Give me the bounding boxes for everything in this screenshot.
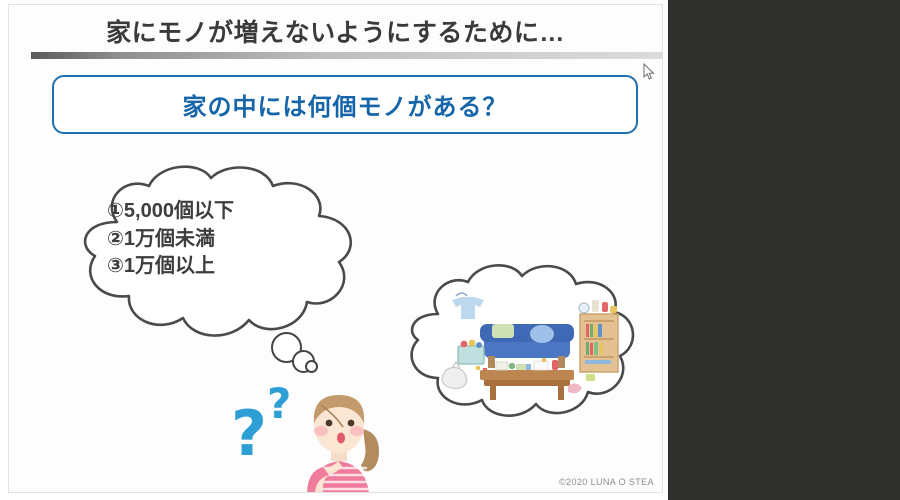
title-divider xyxy=(31,52,663,59)
slide-title: 家にモノが増えないようにするために… xyxy=(9,13,662,49)
answer-option-1: ①5,000個以下 xyxy=(107,198,347,226)
mouse-cursor-icon xyxy=(643,63,655,81)
participant-filmstrip xyxy=(668,0,900,500)
answer-option-3: ③1万個以上 xyxy=(107,253,347,281)
answer-option-2: ②1万個未満 xyxy=(107,226,347,254)
thinking-woman-illustration xyxy=(285,383,395,493)
question-mark-large: ? xyxy=(231,397,267,470)
answer-list: ①5,000個以下 ②1万個未満 ③1万個以上 xyxy=(107,198,347,281)
question-box: 家の中には何個モノがある？ xyxy=(52,75,638,134)
question-text: 家の中には何個モノがある？ xyxy=(183,87,508,122)
cloud-shape-icon xyxy=(392,258,637,423)
answer-thought-cloud: ①5,000個以下 ②1万個未満 ③1万個以上 xyxy=(59,160,379,345)
screen-share-region[interactable]: 家にモノが増えないようにするために… 家の中には何個モノがある？ ①5,000個… xyxy=(0,0,668,500)
room-thought-cloud xyxy=(392,258,637,423)
thought-bubble-small xyxy=(305,360,318,373)
meeting-screen: 家にモノが増えないようにするために… 家の中には何個モノがある？ ①5,000個… xyxy=(0,0,900,500)
copyright-notice: ©2020 LUNA O STEA xyxy=(559,477,654,487)
presentation-slide: 家にモノが増えないようにするために… 家の中には何個モノがある？ ①5,000個… xyxy=(8,4,663,493)
